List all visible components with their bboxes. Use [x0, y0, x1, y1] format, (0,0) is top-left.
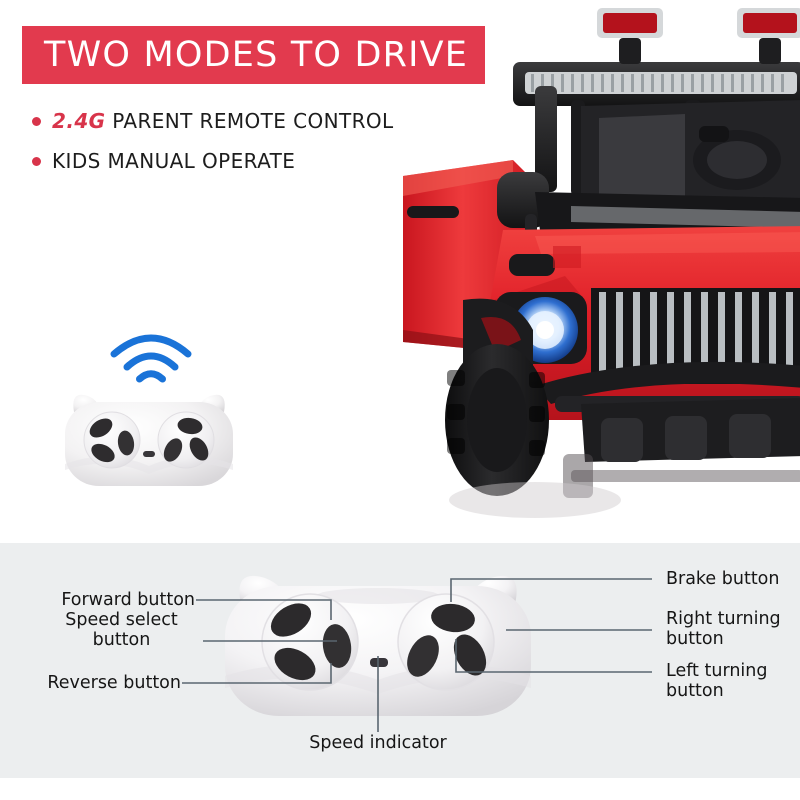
label-speed-select-button: Speed select button	[40, 610, 203, 651]
label-brake-button: Brake button	[666, 569, 796, 589]
speed-indicator-led	[143, 451, 155, 457]
list-item: 2.4G PARENT REMOTE CONTROL	[32, 104, 394, 138]
remote-control-diagram	[213, 556, 543, 724]
roof-spot-lamp	[597, 8, 663, 64]
parent-remote-control	[58, 378, 240, 493]
feature-rest-1: PARENT REMOTE CONTROL	[105, 109, 393, 133]
label-speed-indicator: Speed indicator	[278, 733, 478, 753]
roof-spot-lamp	[737, 8, 800, 64]
infographic-page: TWO MODES TO DRIVE 2.4G PARENT REMOTE CO…	[0, 0, 800, 800]
bullet-dot-icon	[32, 117, 41, 126]
callout-diagram-section: Forward button Speed select button Rever…	[0, 543, 800, 778]
bullet-dot-icon	[32, 157, 41, 166]
speed-indicator-led	[370, 658, 388, 667]
label-reverse-button: Reverse button	[26, 673, 181, 693]
label-forward-button: Forward button	[40, 590, 195, 610]
red-ride-on-truck	[385, 0, 800, 543]
label-left-turning-button: Left turning button	[666, 661, 796, 702]
feature-list: 2.4G PARENT REMOTE CONTROL KIDS MANUAL O…	[32, 104, 394, 184]
list-item: KIDS MANUAL OPERATE	[32, 144, 394, 178]
label-right-turning-button: Right turning button	[666, 609, 796, 650]
feature-accent-1: 2.4G	[52, 109, 105, 133]
feature-text-2: KIDS MANUAL OPERATE	[52, 149, 295, 173]
top-section: TWO MODES TO DRIVE 2.4G PARENT REMOTE CO…	[0, 0, 800, 543]
feature-text-1: 2.4G PARENT REMOTE CONTROL	[52, 109, 394, 133]
